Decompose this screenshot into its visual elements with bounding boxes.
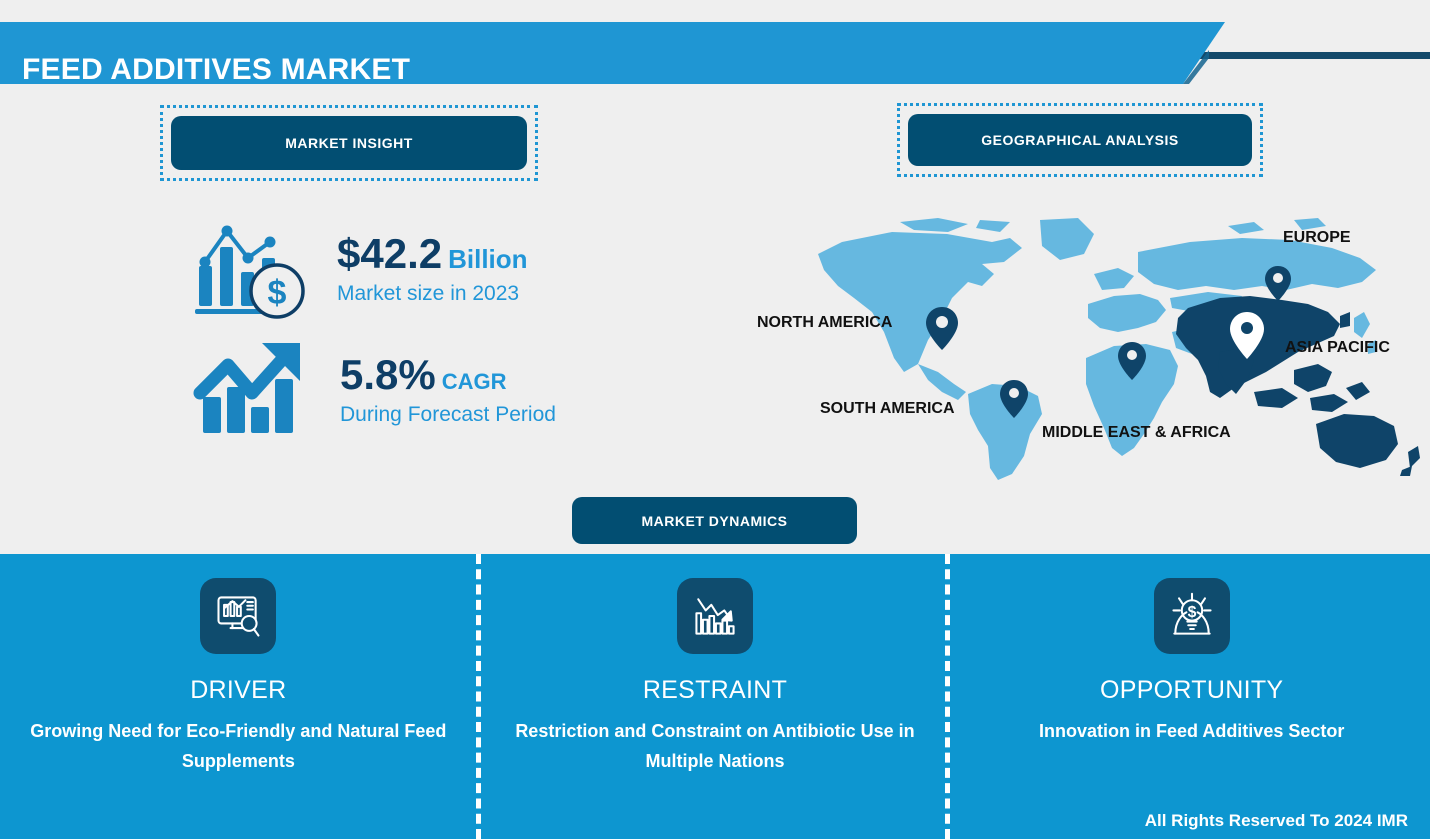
dynamics-title-opportunity: OPPORTUNITY bbox=[1100, 676, 1283, 705]
stat-market-size-text: $42.2Billion Market size in 2023 bbox=[337, 232, 528, 306]
footer-credit: All Rights Reserved To 2024 IMR bbox=[1145, 811, 1408, 831]
market-dynamics-section-header: MARKET DYNAMICS bbox=[572, 497, 857, 544]
stat-cagr-value: 5.8% bbox=[340, 351, 436, 398]
dynamics-description-restraint: Restriction and Constraint on Antibiotic… bbox=[495, 717, 935, 776]
dynamics-column-opportunity: $ OPPORTUNITY Innovation in Feed Additiv… bbox=[953, 554, 1430, 839]
stat-cagr-text: 5.8%CAGR During Forecast Period bbox=[340, 353, 556, 427]
header-banner: FEED ADDITIVES MARKET bbox=[0, 22, 1430, 84]
market-dynamics-label: MARKET DYNAMICS bbox=[642, 513, 788, 529]
map-pin-north-america bbox=[926, 307, 958, 350]
map-label-north-america: NORTH AMERICA bbox=[757, 314, 892, 332]
geographical-analysis-section-header: GEOGRAPHICAL ANALYSIS bbox=[897, 103, 1263, 177]
declining-bar-chart-icon bbox=[677, 578, 753, 654]
stat-market-size-unit: Billion bbox=[448, 244, 527, 274]
map-label-europe: EUROPE bbox=[1283, 229, 1351, 247]
dynamics-column-driver: DRIVER Growing Need for Eco-Friendly and… bbox=[0, 554, 477, 839]
dynamics-description-opportunity: Innovation in Feed Additives Sector bbox=[1039, 717, 1344, 747]
dynamics-title-driver: DRIVER bbox=[190, 676, 286, 705]
infographic-page: FEED ADDITIVES MARKET MARKET INSIGHT bbox=[0, 0, 1430, 839]
monitor-analytics-search-icon bbox=[200, 578, 276, 654]
svg-text:$: $ bbox=[1187, 604, 1196, 621]
market-dynamics-panel: DRIVER Growing Need for Eco-Friendly and… bbox=[0, 554, 1430, 839]
dynamics-description-driver: Growing Need for Eco-Friendly and Natura… bbox=[18, 717, 458, 776]
map-label-south-america: SOUTH AMERICA bbox=[820, 400, 955, 418]
bar-chart-dollar-icon: $ bbox=[185, 214, 315, 324]
lightbulb-dollar-icon: $ bbox=[1154, 578, 1230, 654]
dynamics-title-restraint: RESTRAINT bbox=[643, 676, 787, 705]
header-accent-line bbox=[1175, 52, 1430, 59]
stat-cagr-caption: During Forecast Period bbox=[340, 403, 556, 427]
stat-market-size: $ $42.2Billion Market size in 2023 bbox=[185, 214, 528, 324]
page-title: FEED ADDITIVES MARKET bbox=[22, 53, 410, 87]
stat-cagr-value-row: 5.8%CAGR bbox=[340, 353, 556, 397]
stat-market-size-value: $42.2 bbox=[337, 230, 442, 277]
market-insight-label: MARKET INSIGHT bbox=[171, 116, 527, 170]
stat-market-size-caption: Market size in 2023 bbox=[337, 282, 528, 306]
stat-cagr-unit: CAGR bbox=[442, 369, 507, 394]
growth-arrow-icon bbox=[188, 335, 318, 445]
dynamics-column-restraint: RESTRAINT Restriction and Constraint on … bbox=[477, 554, 954, 839]
geographical-analysis-label: GEOGRAPHICAL ANALYSIS bbox=[908, 114, 1252, 166]
map-label-asia-pacific: ASIA PACIFIC bbox=[1285, 339, 1390, 357]
map-region-asia-pacific-highlight bbox=[1176, 296, 1420, 476]
map-pin-europe bbox=[1265, 266, 1291, 301]
market-insight-section-header: MARKET INSIGHT bbox=[160, 105, 538, 181]
svg-text:$: $ bbox=[268, 274, 287, 312]
stat-cagr: 5.8%CAGR During Forecast Period bbox=[188, 335, 556, 445]
map-label-middle-east-africa: MIDDLE EAST & AFRICA bbox=[1042, 424, 1231, 442]
stat-market-size-value-row: $42.2Billion bbox=[337, 232, 528, 276]
